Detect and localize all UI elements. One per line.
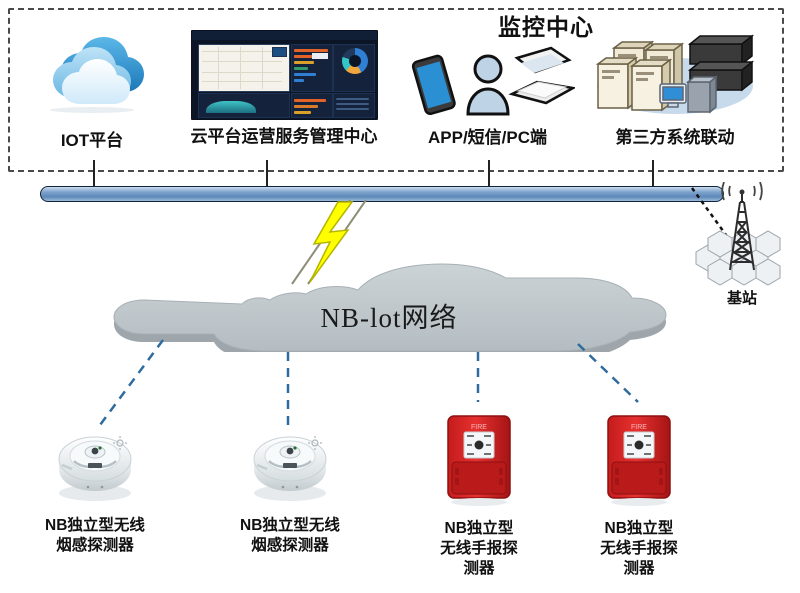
smoke-detector-icon	[40, 425, 150, 505]
cell-tower-icon	[690, 182, 794, 292]
device-label-smoke-1: NB独立型无线 烟感探测器	[20, 516, 170, 556]
call-point-face-text: FIRE	[471, 424, 487, 431]
node-label-cloud-management: 云平台运营服务管理中心	[178, 122, 390, 147]
backbone-bus	[40, 186, 724, 202]
device-smoke-detector-2[interactable]: NB独立型无线 烟感探测器	[215, 425, 365, 556]
device-label-smoke-2: NB独立型无线 烟感探测器	[215, 516, 365, 556]
drop-line-thirdparty	[652, 160, 654, 188]
server-stack-icon	[582, 26, 768, 123]
drop-line-app	[488, 160, 490, 188]
drop-line-iot	[93, 160, 95, 188]
call-point-face-text: FIRE	[631, 424, 647, 431]
cloud-icon	[22, 26, 162, 126]
base-station-label: 基站	[690, 287, 794, 308]
node-third-party-systems[interactable]: 第三方系统联动	[582, 26, 768, 148]
device-label-call-1: NB独立型 无线手报探 测器	[405, 519, 553, 578]
devices-user-icon	[400, 36, 575, 123]
device-manual-call-point-1[interactable]: FIRE NB独立型 无线手报探 测器	[405, 412, 553, 578]
node-label-iot-platform: IOT平台	[22, 126, 162, 151]
node-app-sms-pc[interactable]: APP/短信/PC端	[400, 36, 575, 148]
node-label-app-sms-pc: APP/短信/PC端	[400, 123, 575, 148]
diagram-canvas: 监控中心 I	[0, 0, 800, 593]
device-label-call-2: NB独立型 无线手报探 测器	[565, 519, 713, 578]
smoke-detector-icon	[235, 425, 345, 505]
node-iot-platform[interactable]: IOT平台	[22, 26, 162, 151]
manual-call-point-icon: FIRE	[602, 412, 676, 508]
device-smoke-detector-1[interactable]: NB独立型无线 烟感探测器	[20, 425, 170, 556]
drop-line-dashboard	[266, 160, 268, 188]
node-cloud-management[interactable]: 云平台运营服务管理中心	[178, 30, 390, 147]
device-manual-call-point-2[interactable]: FIRE NB独立型 无线手报探 测器	[565, 412, 713, 578]
dashboard-icon	[191, 30, 378, 120]
manual-call-point-icon: FIRE	[442, 412, 516, 508]
node-label-third-party-systems: 第三方系统联动	[582, 123, 768, 148]
